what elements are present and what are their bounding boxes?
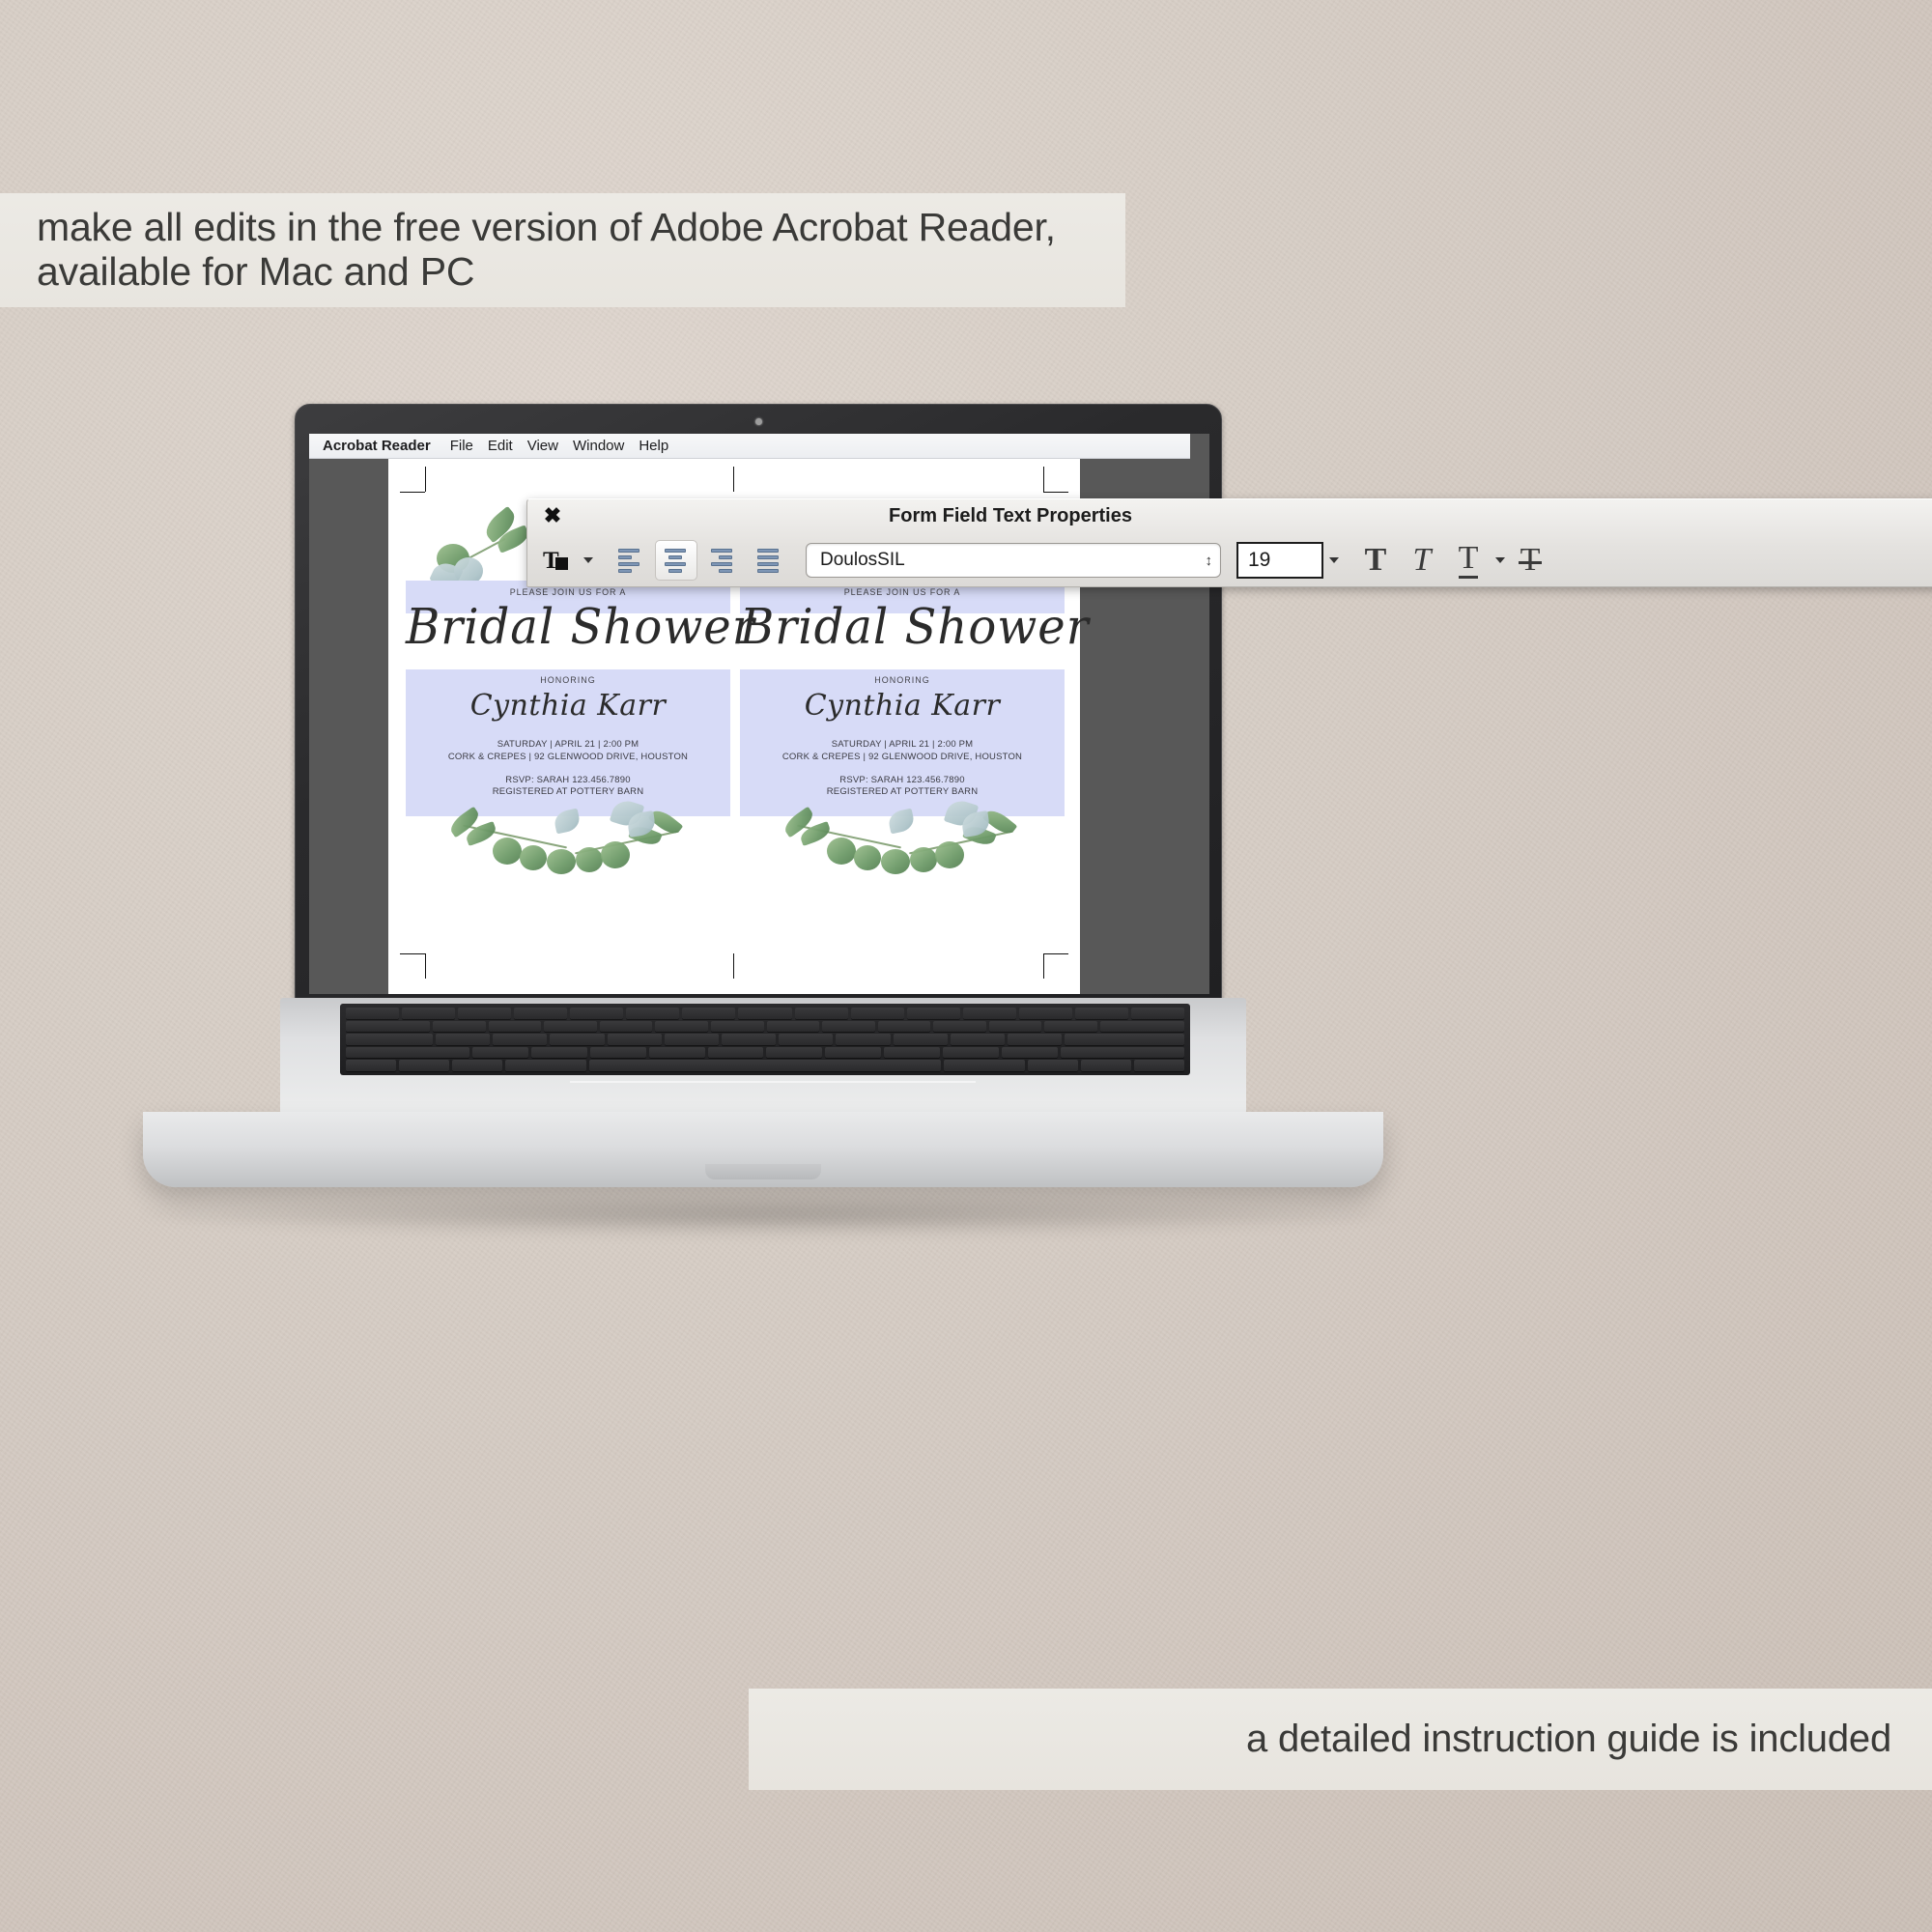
italic-icon: T xyxy=(1413,544,1432,577)
card-join-text: PLEASE JOIN US FOR A xyxy=(740,587,1065,597)
card-date-line: SATURDAY | APRIL 21 | 2:00 PM xyxy=(832,739,974,750)
menu-item-acrobat-reader[interactable]: Acrobat Reader xyxy=(323,438,450,454)
text-tool-icon: T xyxy=(542,546,571,575)
card-rsvp-line: RSVP: SARAH 123.456.7890 xyxy=(839,775,964,785)
invitation-card[interactable]: PLEASE JOIN US FOR A Bridal Shower HONOR… xyxy=(740,563,1065,843)
crop-mark xyxy=(400,953,425,954)
align-left-button[interactable] xyxy=(609,540,651,581)
font-size-input[interactable]: 19 xyxy=(1236,542,1323,579)
card-honoring-label: HONORING xyxy=(740,675,1065,685)
keyboard-row xyxy=(346,1060,1184,1071)
crop-mark xyxy=(1043,492,1068,493)
invitation-card[interactable]: PLEASE JOIN US FOR A Bridal Shower HONOR… xyxy=(406,563,730,843)
card-venue-line: CORK & CREPES | 92 GLENWOOD DRIVE, HOUST… xyxy=(448,752,688,762)
crop-mark xyxy=(400,492,425,493)
crop-mark xyxy=(733,953,734,979)
align-right-button[interactable] xyxy=(701,540,744,581)
keyboard-row xyxy=(346,1021,1184,1033)
strikethrough-button[interactable]: T xyxy=(1509,540,1551,581)
menu-item-edit[interactable]: Edit xyxy=(488,438,527,454)
align-left-icon xyxy=(618,549,641,573)
align-justify-button[interactable] xyxy=(748,540,790,581)
laptop-shadow xyxy=(116,1193,1420,1237)
align-justify-icon xyxy=(757,549,781,573)
crop-mark xyxy=(1043,953,1044,979)
bottom-caption-banner: a detailed instruction guide is included xyxy=(749,1689,1932,1790)
crop-mark xyxy=(1043,953,1068,954)
card-rsvp-line: RSVP: SARAH 123.456.7890 xyxy=(505,775,630,785)
font-family-select[interactable]: DoulosSIL ↕ xyxy=(806,543,1221,578)
top-caption-banner: make all edits in the free version of Ad… xyxy=(0,193,1125,307)
italic-button[interactable]: T xyxy=(1401,540,1443,581)
laptop-deck xyxy=(280,998,1246,1114)
strikethrough-icon: T xyxy=(1520,544,1541,577)
menu-item-help[interactable]: Help xyxy=(639,438,683,454)
card-honoring-label: HONORING xyxy=(406,675,730,685)
text-tool-button[interactable]: T xyxy=(535,540,578,581)
font-family-value: DoulosSIL xyxy=(820,550,905,571)
card-honoree-name[interactable]: Cynthia Karr xyxy=(740,689,1065,723)
keyboard-row xyxy=(346,1008,1184,1019)
crop-mark xyxy=(425,467,426,492)
align-right-icon xyxy=(711,549,734,573)
bottom-caption-text: a detailed instruction guide is included xyxy=(1246,1718,1891,1761)
keyboard-row xyxy=(346,1047,1184,1059)
card-title: Bridal Shower xyxy=(406,599,730,656)
webcam-icon xyxy=(755,418,762,425)
laptop-screen-bezel: Acrobat Reader File Edit View Window Hel… xyxy=(295,404,1222,1008)
card-date-line: SATURDAY | APRIL 21 | 2:00 PM xyxy=(497,739,639,750)
crop-mark xyxy=(1043,467,1044,492)
crop-mark xyxy=(733,467,734,492)
card-honoree-name[interactable]: Cynthia Karr xyxy=(406,689,730,723)
menu-item-view[interactable]: View xyxy=(527,438,573,454)
keyboard-row xyxy=(346,1034,1184,1045)
bold-button[interactable]: T xyxy=(1354,540,1397,581)
form-field-text-properties-dialog[interactable]: ✖ Form Field Text Properties T xyxy=(526,498,1932,587)
crop-mark xyxy=(425,953,426,979)
align-center-button[interactable] xyxy=(655,540,697,581)
font-size-value: 19 xyxy=(1248,549,1270,572)
card-registry-line: REGISTERED AT POTTERY BARN xyxy=(827,786,979,797)
font-size-dropdown-icon[interactable] xyxy=(1329,557,1339,563)
keyboard xyxy=(340,1004,1190,1075)
bold-icon: T xyxy=(1365,544,1387,577)
card-venue-line: CORK & CREPES | 92 GLENWOOD DRIVE, HOUST… xyxy=(782,752,1022,762)
text-tool-dropdown-icon[interactable] xyxy=(583,557,593,563)
card-title: Bridal Shower xyxy=(740,599,1065,656)
trackpad[interactable] xyxy=(570,1081,976,1083)
dialog-toolbar[interactable]: T DoulosS xyxy=(535,538,1551,582)
card-registry-line: REGISTERED AT POTTERY BARN xyxy=(493,786,644,797)
acrobat-menubar[interactable]: Acrobat Reader File Edit View Window Hel… xyxy=(309,434,1190,459)
menu-item-window[interactable]: Window xyxy=(573,438,639,454)
top-caption-line-1: make all edits in the free version of Ad… xyxy=(37,206,1125,250)
align-center-icon xyxy=(665,549,688,573)
menu-item-file[interactable]: File xyxy=(450,438,488,454)
card-details: SATURDAY | APRIL 21 | 2:00 PM CORK & CRE… xyxy=(406,739,730,799)
laptop-front-notch xyxy=(705,1164,821,1179)
dialog-title: Form Field Text Properties xyxy=(527,505,1493,527)
underline-icon: T xyxy=(1459,542,1479,579)
laptop-base xyxy=(135,998,1391,1206)
top-caption-line-2: available for Mac and PC xyxy=(37,250,1125,295)
card-join-text: PLEASE JOIN US FOR A xyxy=(406,587,730,597)
card-details: SATURDAY | APRIL 21 | 2:00 PM CORK & CRE… xyxy=(740,739,1065,799)
stepper-icon[interactable]: ↕ xyxy=(1206,554,1213,568)
underline-button[interactable]: T xyxy=(1447,540,1490,581)
underline-dropdown-icon[interactable] xyxy=(1495,557,1505,563)
